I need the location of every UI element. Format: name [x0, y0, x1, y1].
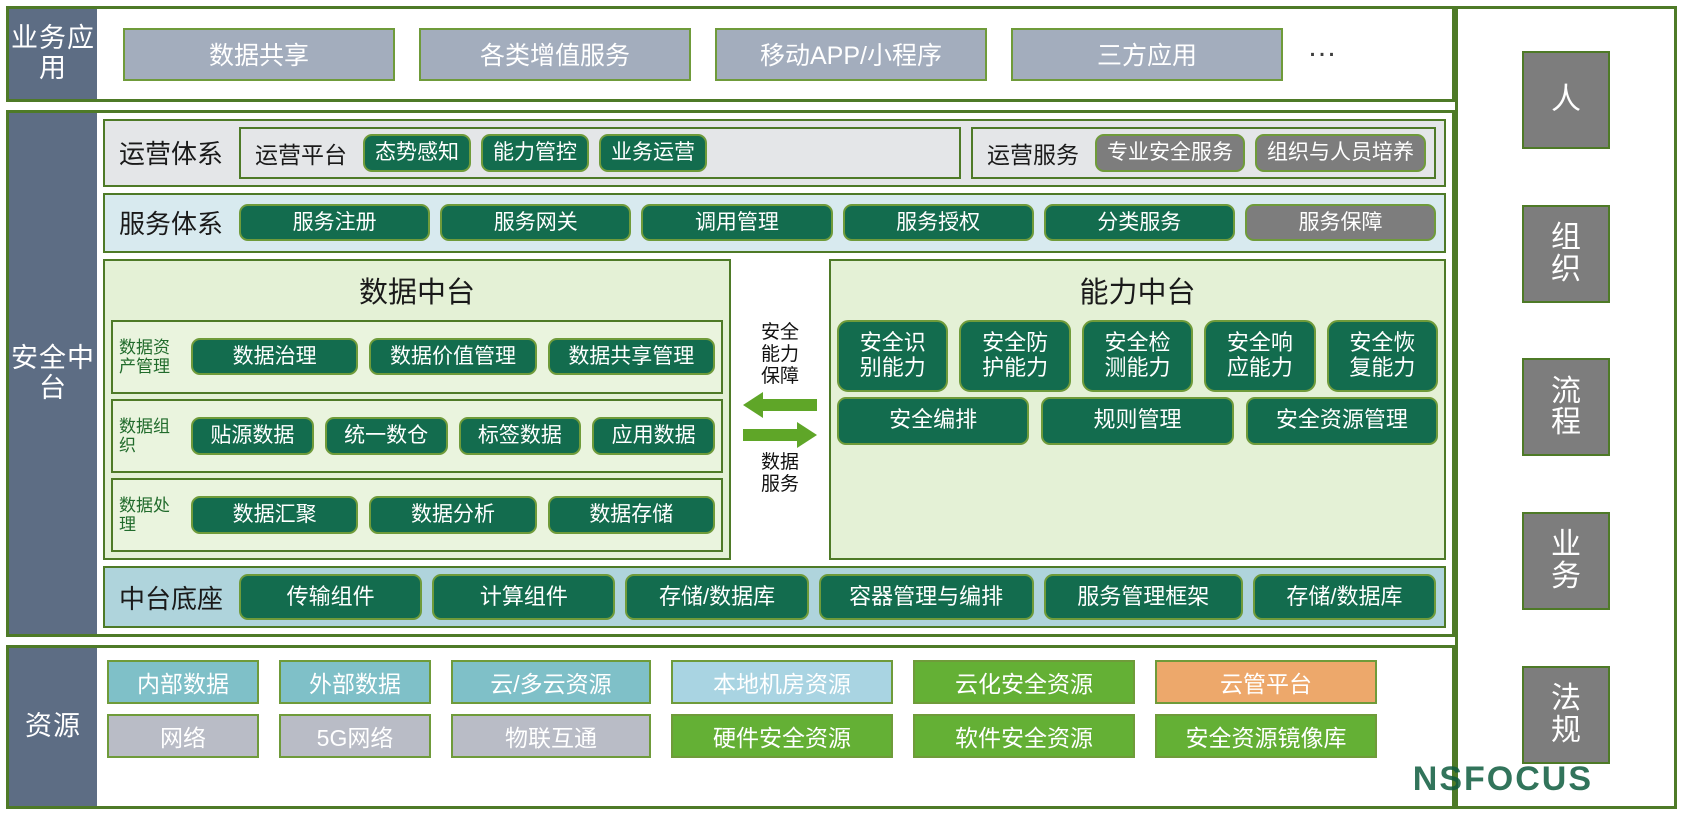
base-item-5[interactable]: 存储/数据库	[1253, 574, 1436, 620]
row-service-system: 服务体系 服务注册 服务网关 调用管理 服务授权 分类服务 服务保障	[103, 193, 1446, 253]
data-org-item-0[interactable]: 贴源数据	[191, 417, 314, 455]
capability-midplatform: 能力中台 安全识别能力 安全防护能力 安全检测能力 安全响应能力 安全恢复能力 …	[829, 259, 1446, 560]
base-item-0[interactable]: 传输组件	[239, 574, 422, 620]
data-midplatform: 数据中台 数据资产管理 数据治理 数据价值管理 数据共享管理 数据组织	[103, 259, 731, 560]
resource-iot[interactable]: 物联互通	[451, 714, 651, 758]
base-item-3[interactable]: 容器管理与编排	[819, 574, 1034, 620]
app-box-1[interactable]: 各类增值服务	[419, 28, 691, 81]
right-rail-inner: 人 组织 流程 业务 法规	[1455, 6, 1677, 809]
main-column: 业务应用 数据共享 各类增值服务 移动APP/小程序 三方应用 … 安全中台 运…	[0, 0, 1455, 815]
data-group-asset: 数据资产管理 数据治理 数据价值管理 数据共享管理	[111, 320, 723, 394]
capability-item-detect[interactable]: 安全检测能力	[1082, 320, 1193, 392]
business-app-list: 数据共享 各类增值服务 移动APP/小程序 三方应用 …	[103, 20, 1446, 89]
rail-item-people[interactable]: 人	[1522, 51, 1610, 149]
capability-item-respond[interactable]: 安全响应能力	[1204, 320, 1315, 392]
service-item-1[interactable]: 服务网关	[440, 204, 631, 242]
service-system-title: 服务体系	[113, 204, 229, 241]
rail-item-business[interactable]: 业务	[1522, 512, 1610, 610]
resource-network[interactable]: 网络	[107, 714, 259, 758]
band-resources: 资源 内部数据 外部数据 云/多云资源 本地机房资源 云化安全资源 云管平台 网…	[6, 645, 1455, 809]
arrow-label-data-service: 数据服务	[761, 452, 799, 496]
data-proc-item-2[interactable]: 数据存储	[548, 496, 715, 534]
resource-image-repository[interactable]: 安全资源镜像库	[1155, 714, 1377, 758]
capability-item-resource-management[interactable]: 安全资源管理	[1246, 397, 1438, 445]
operations-platform-title: 运营平台	[249, 136, 353, 170]
data-group-organization-items: 贴源数据 统一数仓 标签数据 应用数据	[191, 417, 715, 455]
data-group-processing: 数据处理 数据汇聚 数据分析 数据存储	[111, 478, 723, 552]
ops-service-item-0[interactable]: 专业安全服务	[1095, 134, 1245, 172]
data-group-organization-tag: 数据组织	[119, 417, 181, 455]
row-operations-system: 运营体系 运营平台 态势感知 能力管控 业务运营 运营服务 专业安全服务 组织与…	[103, 119, 1446, 187]
data-asset-item-1[interactable]: 数据价值管理	[369, 338, 536, 376]
midplatform-base-title: 中台底座	[113, 579, 229, 616]
resource-cloud-security[interactable]: 云化安全资源	[913, 660, 1135, 704]
ellipsis-icon: …	[1307, 32, 1340, 76]
data-org-item-3[interactable]: 应用数据	[592, 417, 715, 455]
rail-item-regulation[interactable]: 法规	[1522, 666, 1610, 764]
resource-software-security[interactable]: 软件安全资源	[913, 714, 1135, 758]
base-item-2[interactable]: 存储/数据库	[625, 574, 808, 620]
data-proc-item-0[interactable]: 数据汇聚	[191, 496, 358, 534]
service-item-guarantee[interactable]: 服务保障	[1245, 204, 1436, 242]
base-item-1[interactable]: 计算组件	[432, 574, 615, 620]
data-org-item-1[interactable]: 统一数仓	[325, 417, 448, 455]
data-asset-item-0[interactable]: 数据治理	[191, 338, 358, 376]
band-label-business: 业务应用	[9, 9, 97, 99]
operations-platform-group: 运营平台 态势感知 能力管控 业务运营	[239, 127, 961, 179]
security-body: 运营体系 运营平台 态势感知 能力管控 业务运营 运营服务 专业安全服务 组织与…	[97, 113, 1452, 634]
resource-external-data[interactable]: 外部数据	[279, 660, 431, 704]
data-asset-item-2[interactable]: 数据共享管理	[548, 338, 715, 376]
operations-system-title: 运营体系	[113, 134, 229, 171]
resource-5g-network[interactable]: 5G网络	[279, 714, 431, 758]
data-proc-item-1[interactable]: 数据分析	[369, 496, 536, 534]
base-item-4[interactable]: 服务管理框架	[1044, 574, 1243, 620]
ops-platform-item-0[interactable]: 态势感知	[363, 134, 471, 172]
arrow-right-icon	[743, 422, 817, 448]
rail-item-process[interactable]: 流程	[1522, 358, 1610, 456]
capability-item-orchestration[interactable]: 安全编排	[837, 397, 1029, 445]
resources-body: 内部数据 外部数据 云/多云资源 本地机房资源 云化安全资源 云管平台 网络 5…	[97, 648, 1452, 806]
capability-item-recover[interactable]: 安全恢复能力	[1327, 320, 1438, 392]
band-label-security: 安全中台	[9, 113, 97, 634]
resource-cloud[interactable]: 云/多云资源	[451, 660, 651, 704]
operations-service-title: 运营服务	[981, 136, 1085, 170]
ops-platform-item-1[interactable]: 能力管控	[481, 134, 589, 172]
resource-hardware-security[interactable]: 硬件安全资源	[671, 714, 893, 758]
band-business-application: 业务应用 数据共享 各类增值服务 移动APP/小程序 三方应用 …	[6, 6, 1455, 102]
resource-cloud-platform[interactable]: 云管平台	[1155, 660, 1377, 704]
row-midplatform-base: 中台底座 传输组件 计算组件 存储/数据库 容器管理与编排 服务管理框架 存储/…	[103, 566, 1446, 628]
resource-internal-data[interactable]: 内部数据	[107, 660, 259, 704]
arrow-label-security-capability: 安全能力保障	[761, 322, 799, 388]
midplatform-arrows: 安全能力保障 数据服务	[737, 259, 823, 560]
resources-row-1: 内部数据 外部数据 云/多云资源 本地机房资源 云化安全资源 云管平台	[107, 660, 1442, 704]
data-group-asset-items: 数据治理 数据价值管理 数据共享管理	[191, 338, 715, 376]
data-group-processing-items: 数据汇聚 数据分析 数据存储	[191, 496, 715, 534]
data-midplatform-title: 数据中台	[111, 267, 723, 315]
capability-midplatform-title: 能力中台	[837, 267, 1438, 315]
service-item-3[interactable]: 服务授权	[843, 204, 1034, 242]
capability-row-2: 安全编排 规则管理 安全资源管理	[837, 397, 1438, 445]
data-group-organization: 数据组织 贴源数据 统一数仓 标签数据 应用数据	[111, 399, 723, 473]
business-body: 数据共享 各类增值服务 移动APP/小程序 三方应用 …	[97, 9, 1452, 99]
capability-item-rule-management[interactable]: 规则管理	[1041, 397, 1233, 445]
resource-local-datacenter[interactable]: 本地机房资源	[671, 660, 893, 704]
right-rail: 人 组织 流程 业务 法规	[1455, 0, 1683, 815]
service-item-2[interactable]: 调用管理	[641, 204, 832, 242]
band-security-midplatform: 安全中台 运营体系 运营平台 态势感知 能力管控 业务运营 运营服务 专业安全服…	[6, 110, 1455, 637]
data-group-asset-tag: 数据资产管理	[119, 338, 181, 376]
midplatform-area: 数据中台 数据资产管理 数据治理 数据价值管理 数据共享管理 数据组织	[103, 259, 1446, 560]
service-item-0[interactable]: 服务注册	[239, 204, 430, 242]
ops-platform-item-2[interactable]: 业务运营	[599, 134, 707, 172]
service-item-4[interactable]: 分类服务	[1044, 204, 1235, 242]
arrow-left-icon	[743, 392, 817, 418]
capability-item-identify[interactable]: 安全识别能力	[837, 320, 948, 392]
operations-service-group: 运营服务 专业安全服务 组织与人员培养	[971, 127, 1436, 179]
ops-service-item-1[interactable]: 组织与人员培养	[1255, 134, 1426, 172]
resources-row-2: 网络 5G网络 物联互通 硬件安全资源 软件安全资源 安全资源镜像库	[107, 714, 1442, 758]
band-label-resources: 资源	[9, 648, 97, 806]
app-box-2[interactable]: 移动APP/小程序	[715, 28, 987, 81]
app-box-0[interactable]: 数据共享	[123, 28, 395, 81]
capability-row-1: 安全识别能力 安全防护能力 安全检测能力 安全响应能力 安全恢复能力	[837, 320, 1438, 392]
app-box-3[interactable]: 三方应用	[1011, 28, 1283, 81]
data-org-item-2[interactable]: 标签数据	[459, 417, 582, 455]
rail-item-organization[interactable]: 组织	[1522, 205, 1610, 303]
architecture-diagram: 业务应用 数据共享 各类增值服务 移动APP/小程序 三方应用 … 安全中台 运…	[0, 0, 1689, 815]
data-group-processing-tag: 数据处理	[119, 496, 181, 534]
capability-item-protect[interactable]: 安全防护能力	[959, 320, 1070, 392]
